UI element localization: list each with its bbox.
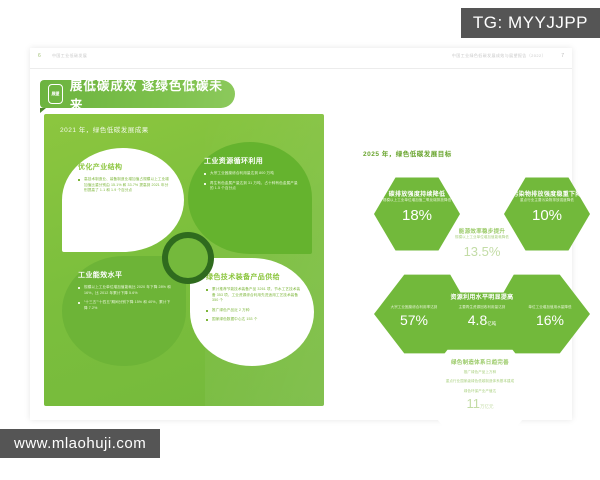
leaf-d-heading: 绿色技术装备产品供给 bbox=[206, 272, 301, 282]
leaf-industry-structure: 优化产业结构 高技术制造业、装备制造业增加值占规模以上工业增加值比重分别由 15… bbox=[62, 148, 184, 252]
document-page: 6 中国工业低碳发展 中国工业绿色低碳发展成效与展望报告（2022） 7 展望 … bbox=[30, 48, 572, 420]
hex-1-value: 18% bbox=[402, 208, 432, 223]
leaf-resource-recycling: 工业资源循环利用 大宗工业固废综合利用量达到 800 万吨 再生有色金属产量达到… bbox=[188, 142, 312, 254]
hex-5-unit: 万亿元 bbox=[480, 404, 494, 409]
hex-4-col1-value: 57% bbox=[385, 313, 443, 327]
leaf-a-heading: 优化产业结构 bbox=[78, 162, 171, 172]
folio-left: 6 bbox=[38, 53, 41, 59]
leaf-d-list: 累计推荐节能技术装备产品 3261 项，节水工艺技术装备 353 项，工业资源综… bbox=[206, 287, 301, 323]
hex-4-columns: 大宗工业固废综合利用率达到 57% 主要再生资源回收利用量达到 4.8亿吨 单位… bbox=[385, 305, 579, 327]
hex-2-value: 10% bbox=[532, 208, 562, 223]
header-right-text: 中国工业绿色低碳发展成效与展望报告（2022） bbox=[452, 53, 546, 59]
hex-carbon-intensity: 碳排放强度持续降低 规模以上工业单位增加值二氧化碳排放降低 18% bbox=[374, 176, 460, 252]
hex-5-value: 11万亿元 bbox=[467, 397, 494, 410]
hex-5-sub-2: 重点行业国家级绿色低碳制造体系基本建成 bbox=[446, 379, 514, 384]
leaf-c-list: 规模以上工业单位增加值能耗比 2020 年下降 28% 和 16%，比 2012… bbox=[78, 285, 173, 311]
section-title-banner: 展望 展低碳成效 逐绿色低碳未来 bbox=[40, 80, 235, 108]
leaf-a-bullet: 高技术制造业、装备制造业增加值占规模以上工业增加值比重分别由 15.1% 和 3… bbox=[78, 177, 171, 194]
site-watermark: www.mlaohuji.com bbox=[0, 429, 160, 458]
leaf-c-heading: 工业能效水平 bbox=[78, 270, 173, 280]
hex-4-col2-sub: 主要再生资源回收利用量达到 bbox=[453, 305, 511, 310]
leaf-green-technology: 绿色技术装备产品供给 累计推荐节能技术装备产品 3261 项，节水工艺技术装备 … bbox=[190, 258, 314, 366]
leaf-b-bullet: 再生有色金属产量达到 31 万吨，占十种有色金属产量的 1.5 个百分点 bbox=[204, 181, 299, 192]
leaf-b-heading: 工业资源循环利用 bbox=[204, 156, 299, 166]
hex-green-manufacturing-system: 绿色制造体系日趋完善 推广绿色产品上万种 重点行业国家级绿色低碳制造体系基本建成… bbox=[415, 348, 545, 434]
hex-1-sub: 规模以上工业单位增加值二氧化碳排放降低 bbox=[383, 198, 451, 203]
achievements-kicker: 2021 年，绿色低碳发展成果 bbox=[60, 124, 149, 134]
leaf-c-bullet: “十三五”“十四五”期间分别下降 15% 和 40%，累计下降 7.2% bbox=[78, 300, 173, 311]
telegram-watermark: TG: MYYJJPP bbox=[461, 8, 600, 38]
hex-3-value: 13.5% bbox=[464, 245, 501, 258]
hex-4-col2-value: 4.8亿吨 bbox=[453, 313, 511, 327]
page-running-header: 6 中国工业低碳发展 中国工业绿色低碳发展成效与展望报告（2022） 7 bbox=[30, 48, 572, 69]
hex-3-sub: 规模以上工业单位增加值能耗降低 bbox=[455, 235, 509, 240]
header-left-text: 中国工业低碳发展 bbox=[52, 53, 87, 59]
folio-right: 7 bbox=[561, 53, 564, 59]
hex-4-col2-unit: 亿吨 bbox=[487, 321, 496, 326]
goals-kicker: 2025 年，绿色低碳发展目标 bbox=[363, 148, 452, 158]
leaf-b-bullet: 大宗工业固废综合利用量达到 800 万吨 bbox=[204, 171, 299, 177]
hex-4-col3-sub: 单位工业增加值用水量降低 bbox=[521, 305, 579, 310]
hex-2-sub: 重点行业主要污染物排放强度降低 bbox=[520, 198, 574, 203]
leaf-a-list: 高技术制造业、装备制造业增加值占规模以上工业增加值比重分别由 15.1% 和 3… bbox=[78, 177, 171, 194]
hex-1-heading: 碳排放强度持续降低 bbox=[389, 189, 446, 198]
hex-3-heading: 能源效率稳步提升 bbox=[459, 227, 505, 235]
hex-4-col1-sub: 大宗工业固废综合利用率达到 bbox=[385, 305, 443, 310]
hex-4-col3-value: 16% bbox=[521, 313, 579, 327]
hex-4-column: 单位工业增加值用水量降低 16% bbox=[521, 305, 579, 327]
leaf-d-bullet: 累计推荐节能技术装备产品 3261 项，节水工艺技术装备 353 项，工业资源综… bbox=[206, 287, 301, 304]
hex-2-heading: 污染物排放强度稳重下降 bbox=[512, 189, 581, 198]
leaf-d-bullet: 推广绿色产品近 2 万种 bbox=[206, 308, 301, 314]
leaf-c-bullet: 规模以上工业单位增加值能耗比 2020 年下降 28% 和 16%，比 2012… bbox=[78, 285, 173, 296]
achievements-panel: 2021 年，绿色低碳发展成果 优化产业结构 高技术制造业、装备制造业增加值占规… bbox=[44, 114, 324, 406]
leaf-b-list: 大宗工业固废综合利用量达到 800 万吨 再生有色金属产量达到 31 万吨，占十… bbox=[204, 171, 299, 192]
section-title-text: 展低碳成效 逐绿色低碳未来 bbox=[70, 75, 235, 113]
center-ring-decoration bbox=[162, 232, 214, 284]
hex-pollutant-intensity: 污染物排放强度稳重下降 重点行业主要污染物排放强度降低 10% bbox=[504, 176, 590, 252]
hex-4-heading: 资源利用水平明显提高 bbox=[450, 292, 513, 301]
hex-4-column: 主要再生资源回收利用量达到 4.8亿吨 bbox=[453, 305, 511, 327]
hex-5-sub-1: 推广绿色产品上万种 bbox=[464, 370, 496, 375]
badge-icon: 展望 bbox=[48, 84, 63, 104]
hex-4-column: 大宗工业固废综合利用率达到 57% bbox=[385, 305, 443, 327]
hex-5-heading: 绿色制造体系日趋完善 bbox=[451, 358, 509, 366]
hex-5-value-label: 绿色环保产业产值达 bbox=[464, 389, 496, 394]
leaf-d-bullet: 国家绿色数据中心达 153 个 bbox=[206, 317, 301, 323]
